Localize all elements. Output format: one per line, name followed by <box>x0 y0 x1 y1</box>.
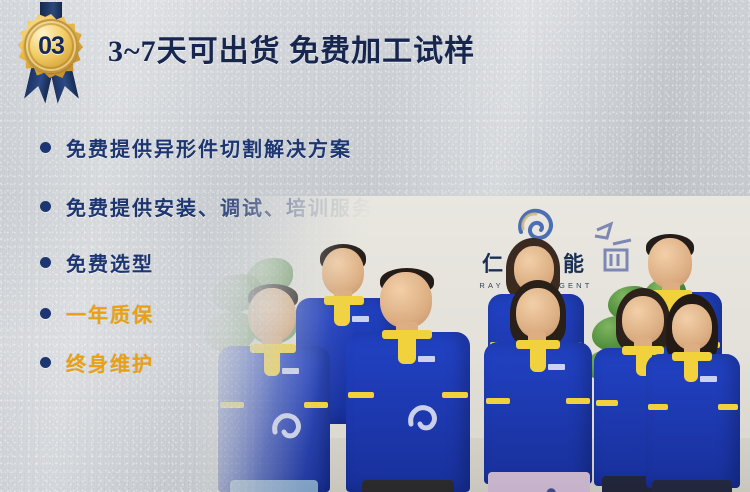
promo-slide: 03 3~7天可出货 免费加工试样 免费提供异形件切割解决方案 免费提供安装、调… <box>0 0 750 492</box>
bullet-dot-icon <box>40 201 51 212</box>
person-front-center-right <box>482 280 594 492</box>
person-front-center <box>346 268 472 492</box>
trousers <box>362 480 454 492</box>
person-front-left <box>218 284 334 492</box>
person-far-right <box>644 294 742 492</box>
bullet-dot-icon <box>40 357 51 368</box>
bullet-dot-icon <box>40 257 51 268</box>
header-band: 03 3~7天可出货 免费加工试样 <box>0 0 750 104</box>
list-item: 免费提供异形件切割解决方案 <box>40 133 470 162</box>
uniform-logo <box>270 410 304 444</box>
list-item-label: 免费选型 <box>66 248 154 277</box>
list-item-label: 终身维护 <box>66 348 154 377</box>
list-item-label: 一年质保 <box>66 299 154 328</box>
award-medal-icon: 03 <box>13 2 89 102</box>
bullet-dot-icon <box>40 142 51 153</box>
bullet-dot-icon <box>40 308 51 319</box>
team-group-photo: 仁光智能 RAY INTELLIGENT <box>196 196 750 492</box>
trousers <box>652 480 732 492</box>
list-item-label: 免费提供异形件切割解决方案 <box>66 133 352 162</box>
badge-number: 03 <box>24 19 78 73</box>
floral-skirt <box>488 472 590 492</box>
jeans <box>230 480 318 492</box>
page-title: 3~7天可出货 免费加工试样 <box>108 26 475 70</box>
uniform-logo <box>406 402 440 436</box>
